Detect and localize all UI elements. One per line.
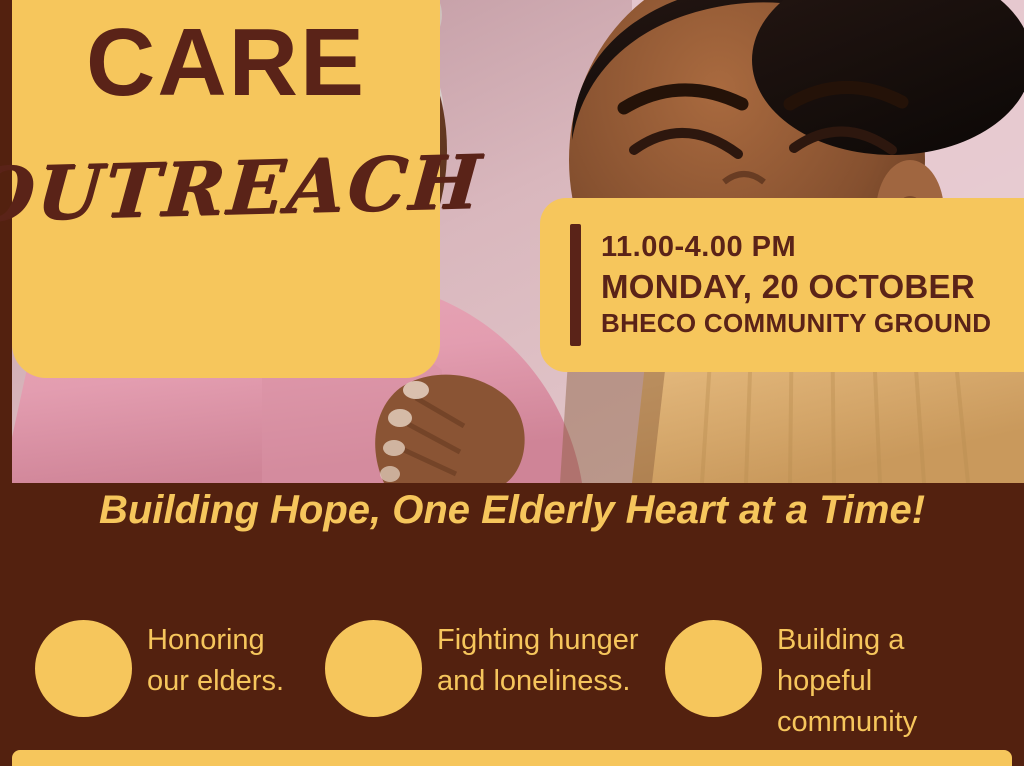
feature-item: Honoring our elders. [35,596,325,717]
feature-text: Building a hopeful community [777,620,965,744]
circle-bullet-icon [325,620,422,717]
event-details-lines: 11.00-4.00 PM MONDAY, 20 OCTOBER BHECO C… [601,229,991,340]
bottom-accent-bar [12,750,1012,766]
vertical-rule-divider [570,224,581,346]
feature-list: Honoring our elders. Fighting hunger and… [0,596,1024,748]
brand-script-word: OUTREACH [0,140,486,239]
brand-title-card: SHUJAA CARE OUTREACH [12,0,440,378]
event-details-box: 11.00-4.00 PM MONDAY, 20 OCTOBER BHECO C… [540,198,1024,372]
tagline: Building Hope, One Elderly Heart at a Ti… [0,483,1024,538]
event-date: MONDAY, 20 OCTOBER [601,266,991,307]
feature-text: Honoring our elders. [147,620,307,702]
circle-bullet-icon [35,620,132,717]
feature-item: Fighting hunger and loneliness. [325,596,665,717]
feature-item: Building a hopeful community [665,596,965,744]
brand-name-line2: CARE [86,8,366,118]
circle-bullet-icon [665,620,762,717]
feature-text: Fighting hunger and loneliness. [437,620,665,702]
event-time: 11.00-4.00 PM [601,229,991,265]
event-venue: BHECO COMMUNITY GROUND [601,307,991,341]
outreach-flyer: SHUJAA CARE OUTREACH 11.00-4.00 PM MONDA… [0,0,1024,766]
